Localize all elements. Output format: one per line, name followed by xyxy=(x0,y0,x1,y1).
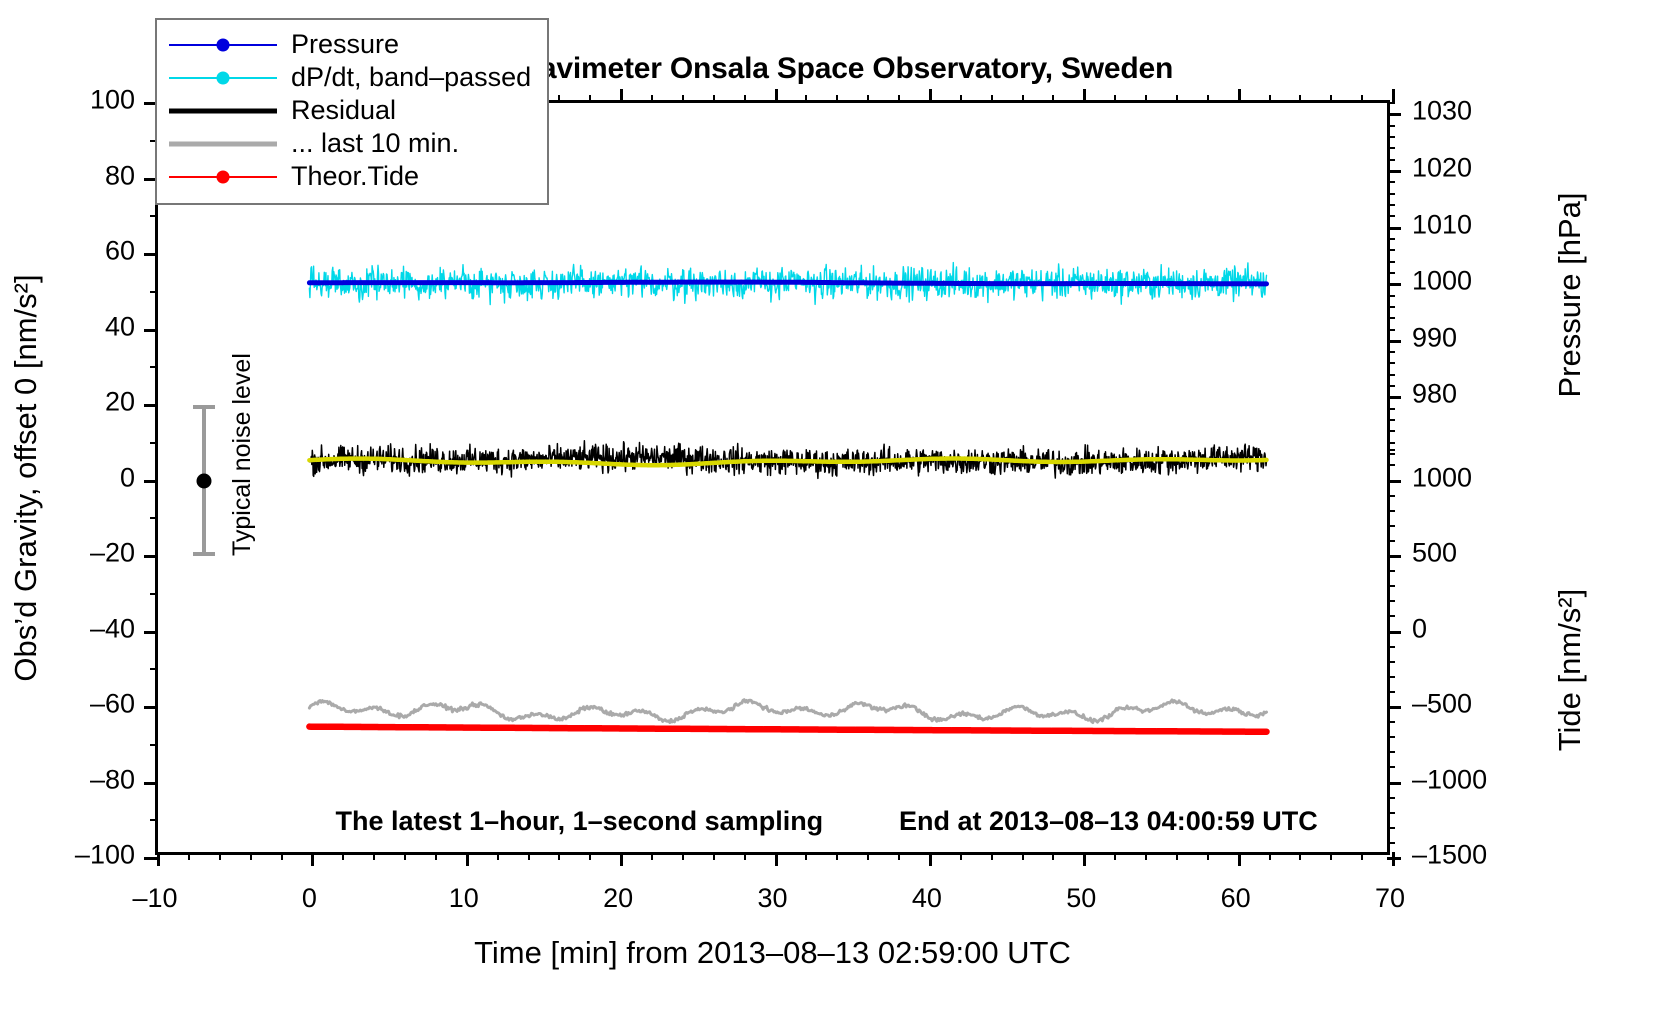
legend-item[interactable]: Pressure xyxy=(169,28,531,61)
axis-tick xyxy=(1387,631,1401,634)
axis-tick xyxy=(1387,430,1395,432)
axis-tick xyxy=(1387,857,1401,860)
axis-tick xyxy=(1387,170,1401,173)
axis-tick xyxy=(1145,95,1147,103)
y-tick-label-tide: 0 xyxy=(1412,615,1427,642)
y-tick-label-tide: 1000 xyxy=(1412,464,1472,491)
noise-cap-bottom xyxy=(193,552,215,556)
axis-tick xyxy=(144,706,158,709)
axis-tick xyxy=(219,852,221,860)
axis-tick xyxy=(1387,227,1401,230)
axis-tick xyxy=(150,442,158,444)
axis-tick xyxy=(1387,136,1395,138)
chart-page: SCG_054 gravimeter Onsala Space Observat… xyxy=(0,0,1660,1020)
axis-tick xyxy=(1387,283,1401,286)
plot-area: Typical noise level The latest 1–hour, 1… xyxy=(155,100,1390,855)
axis-tick xyxy=(1052,852,1054,860)
axis-tick xyxy=(281,852,283,860)
axis-tick xyxy=(150,517,158,519)
legend-marker-dot xyxy=(217,38,230,51)
axis-tick xyxy=(150,366,158,368)
axis-tick xyxy=(1387,600,1395,602)
y-tick-label-pressure: 980 xyxy=(1412,381,1457,408)
y-tick-label-gravity: 0 xyxy=(0,464,135,491)
axis-tick xyxy=(682,852,684,860)
legend-label: Residual xyxy=(277,95,396,126)
axis-tick xyxy=(558,95,560,103)
axis-tick xyxy=(960,852,962,860)
axis-tick xyxy=(1022,95,1024,103)
noise-center-dot xyxy=(197,473,212,488)
axis-tick xyxy=(1387,215,1395,217)
axis-tick xyxy=(1387,419,1395,421)
legend-label: ... last 10 min. xyxy=(277,128,459,159)
axis-tick xyxy=(1387,464,1395,466)
axis-tick xyxy=(1387,615,1395,617)
axis-tick xyxy=(144,404,158,407)
axis-tick xyxy=(1387,449,1395,451)
axis-tick xyxy=(1269,95,1271,103)
y-tick-label-pressure: 1020 xyxy=(1412,154,1472,181)
axis-tick xyxy=(1387,691,1395,693)
y-tick-label-gravity: –40 xyxy=(0,615,135,642)
y-tick-label-pressure: 1030 xyxy=(1412,98,1472,125)
y-tick-label-gravity: 20 xyxy=(0,389,135,416)
axis-tick xyxy=(1330,852,1332,860)
axis-tick xyxy=(150,215,158,217)
axis-tick xyxy=(1238,852,1241,866)
y-axis-title-pressure: Pressure [hPa] xyxy=(1552,192,1588,397)
legend-item[interactable]: dP/dt, band–passed xyxy=(169,61,531,94)
axis-tick xyxy=(1387,385,1395,387)
x-tick-label-time: 10 xyxy=(449,885,479,912)
y-tick-label-pressure: 1010 xyxy=(1412,211,1472,238)
axis-tick xyxy=(558,852,560,860)
axis-tick xyxy=(1361,95,1363,103)
axis-tick xyxy=(620,852,623,866)
legend-swatch-5 xyxy=(169,167,277,187)
axis-tick xyxy=(744,852,746,860)
axis-tick xyxy=(1387,812,1395,814)
axis-tick xyxy=(528,852,530,860)
axis-tick xyxy=(1392,89,1395,103)
axis-tick xyxy=(1387,295,1395,297)
axis-tick xyxy=(1269,852,1271,860)
axis-tick xyxy=(1145,852,1147,860)
axis-tick xyxy=(1387,646,1395,648)
y-tick-label-gravity: –60 xyxy=(0,691,135,718)
axis-tick xyxy=(1387,317,1395,319)
x-axis-title: Time [min] from 2013–08–13 02:59:00 UTC xyxy=(474,935,1071,971)
axis-tick xyxy=(1387,570,1395,572)
axis-tick xyxy=(589,852,591,860)
axis-tick xyxy=(150,819,158,821)
axis-tick xyxy=(1176,95,1178,103)
axis-tick xyxy=(1387,736,1395,738)
trace-last-10-min xyxy=(309,700,1266,723)
axis-tick xyxy=(1387,442,1395,444)
axis-tick xyxy=(1052,95,1054,103)
legend-swatch-4 xyxy=(169,134,277,154)
axis-tick xyxy=(929,852,932,866)
y-tick-label-pressure: 990 xyxy=(1412,324,1457,351)
axis-tick xyxy=(991,95,993,103)
axis-tick xyxy=(1238,89,1241,103)
axis-tick xyxy=(991,852,993,860)
axis-tick xyxy=(713,95,715,103)
axis-tick xyxy=(150,744,158,746)
axis-tick xyxy=(1387,797,1395,799)
axis-tick xyxy=(1387,306,1395,308)
axis-tick xyxy=(836,852,838,860)
axis-tick xyxy=(1387,113,1401,116)
y-axis-title-tide: Tide [nm/s²] xyxy=(1552,589,1588,752)
axis-tick xyxy=(1387,480,1401,483)
axis-tick xyxy=(1387,261,1395,263)
legend-swatch-2 xyxy=(169,68,277,88)
y-tick-label-gravity: 100 xyxy=(0,87,135,114)
axis-tick xyxy=(311,852,314,866)
y-tick-label-tide: 500 xyxy=(1412,540,1457,567)
axis-tick xyxy=(1361,852,1363,860)
axis-tick xyxy=(466,852,469,866)
axis-tick xyxy=(1387,661,1395,663)
axis-tick xyxy=(929,89,932,103)
y-tick-label-gravity: –20 xyxy=(0,540,135,567)
axis-tick xyxy=(775,852,778,866)
axis-tick xyxy=(1387,585,1395,587)
x-tick-label-time: –10 xyxy=(132,885,177,912)
noise-cap-top xyxy=(193,405,215,409)
trace-pressure xyxy=(309,282,1266,284)
axis-tick xyxy=(1299,95,1301,103)
legend-swatch-1 xyxy=(169,35,277,55)
axis-tick xyxy=(144,480,158,483)
axis-tick xyxy=(682,95,684,103)
x-tick-label-time: 60 xyxy=(1221,885,1251,912)
axis-tick xyxy=(620,89,623,103)
axis-tick xyxy=(144,253,158,256)
axis-tick xyxy=(960,95,962,103)
axis-tick xyxy=(1387,555,1401,558)
axis-tick xyxy=(1387,374,1395,376)
y-tick-label-gravity: 60 xyxy=(0,238,135,265)
axis-tick xyxy=(1387,362,1395,364)
axis-tick xyxy=(1207,95,1209,103)
axis-tick xyxy=(1387,453,1395,455)
axis-tick xyxy=(867,852,869,860)
y-tick-label-gravity: 80 xyxy=(0,162,135,189)
axis-tick xyxy=(144,782,158,785)
y-tick-label-pressure: 1000 xyxy=(1412,268,1472,295)
x-tick-label-time: 40 xyxy=(912,885,942,912)
y-tick-label-gravity: –80 xyxy=(0,766,135,793)
axis-tick xyxy=(1330,95,1332,103)
axis-tick xyxy=(775,89,778,103)
x-tick-label-time: 20 xyxy=(603,885,633,912)
axis-tick xyxy=(1387,721,1395,723)
y-tick-label-gravity: –100 xyxy=(0,842,135,869)
axis-tick xyxy=(1387,238,1395,240)
trace-layer xyxy=(158,103,1387,852)
axis-tick xyxy=(1387,204,1395,206)
axis-tick xyxy=(1387,159,1395,161)
axis-tick xyxy=(404,852,406,860)
axis-tick xyxy=(1387,706,1401,709)
axis-tick xyxy=(1083,852,1086,866)
axis-tick xyxy=(144,857,158,860)
legend-label: Pressure xyxy=(277,29,399,60)
legend-line xyxy=(169,141,277,146)
axis-tick xyxy=(651,95,653,103)
axis-tick xyxy=(805,852,807,860)
axis-tick xyxy=(1083,89,1086,103)
axis-tick xyxy=(1387,751,1395,753)
plot-canvas xyxy=(158,103,1387,852)
axis-tick xyxy=(1387,510,1395,512)
trace-theoretical-tide xyxy=(309,727,1266,732)
axis-tick xyxy=(188,852,190,860)
y-tick-label-tide: –1000 xyxy=(1412,766,1487,793)
axis-tick xyxy=(1299,852,1301,860)
legend-item[interactable]: Theor.Tide xyxy=(169,160,531,193)
axis-tick xyxy=(1387,193,1395,195)
noise-level-label: Typical noise level xyxy=(228,353,257,556)
axis-tick xyxy=(373,852,375,860)
axis-tick xyxy=(898,852,900,860)
axis-tick xyxy=(898,95,900,103)
axis-tick xyxy=(1387,540,1395,542)
axis-tick xyxy=(1114,95,1116,103)
chart-legend: PressuredP/dt, band–passedResidual... la… xyxy=(155,18,549,205)
axis-tick xyxy=(1114,852,1116,860)
axis-tick xyxy=(144,329,158,332)
axis-tick xyxy=(1387,827,1395,829)
legend-swatch-3 xyxy=(169,101,277,121)
axis-tick xyxy=(1387,408,1395,410)
axis-tick xyxy=(589,95,591,103)
y-tick-label-gravity: 40 xyxy=(0,313,135,340)
axis-tick xyxy=(1176,852,1178,860)
axis-tick xyxy=(1387,351,1395,353)
axis-tick xyxy=(713,852,715,860)
axis-tick xyxy=(1387,181,1395,183)
axis-tick xyxy=(867,95,869,103)
axis-tick xyxy=(1387,125,1395,127)
legend-line xyxy=(169,108,277,113)
axis-tick xyxy=(1207,852,1209,860)
axis-tick xyxy=(342,852,344,860)
legend-label: Theor.Tide xyxy=(277,161,419,192)
x-tick-label-time: 30 xyxy=(757,885,787,912)
axis-tick xyxy=(1387,842,1395,844)
axis-tick xyxy=(1387,329,1395,331)
axis-tick xyxy=(1387,102,1395,104)
axis-tick xyxy=(435,852,437,860)
x-tick-label-time: 50 xyxy=(1066,885,1096,912)
legend-label: dP/dt, band–passed xyxy=(277,62,531,93)
x-tick-label-time: 0 xyxy=(302,885,317,912)
axis-tick xyxy=(1387,676,1395,678)
axis-tick xyxy=(744,95,746,103)
axis-tick xyxy=(144,555,158,558)
legend-marker-dot xyxy=(217,71,230,84)
axis-tick xyxy=(836,95,838,103)
axis-tick xyxy=(1387,147,1395,149)
legend-item[interactable]: Residual xyxy=(169,94,531,127)
sampling-note: The latest 1–hour, 1–second sampling xyxy=(336,806,824,837)
axis-tick xyxy=(651,852,653,860)
axis-tick xyxy=(497,852,499,860)
axis-tick xyxy=(1387,340,1401,343)
x-tick-label-time: 70 xyxy=(1375,885,1405,912)
legend-item[interactable]: ... last 10 min. xyxy=(169,127,531,160)
axis-tick xyxy=(150,291,158,293)
axis-tick xyxy=(157,852,160,866)
legend-marker-dot xyxy=(217,170,230,183)
axis-tick xyxy=(1387,782,1401,785)
axis-tick xyxy=(1387,495,1395,497)
axis-tick xyxy=(150,668,158,670)
axis-tick xyxy=(805,95,807,103)
axis-tick xyxy=(1387,525,1395,527)
axis-tick xyxy=(144,631,158,634)
y-tick-label-tide: –500 xyxy=(1412,691,1472,718)
axis-tick xyxy=(1387,249,1395,251)
axis-tick xyxy=(1022,852,1024,860)
axis-tick xyxy=(1387,272,1395,274)
end-time-note: End at 2013–08–13 04:00:59 UTC xyxy=(899,806,1318,837)
y-tick-label-tide: –1500 xyxy=(1412,842,1487,869)
axis-tick xyxy=(1387,396,1401,399)
axis-tick xyxy=(150,593,158,595)
axis-tick xyxy=(250,852,252,860)
axis-tick xyxy=(1387,766,1395,768)
